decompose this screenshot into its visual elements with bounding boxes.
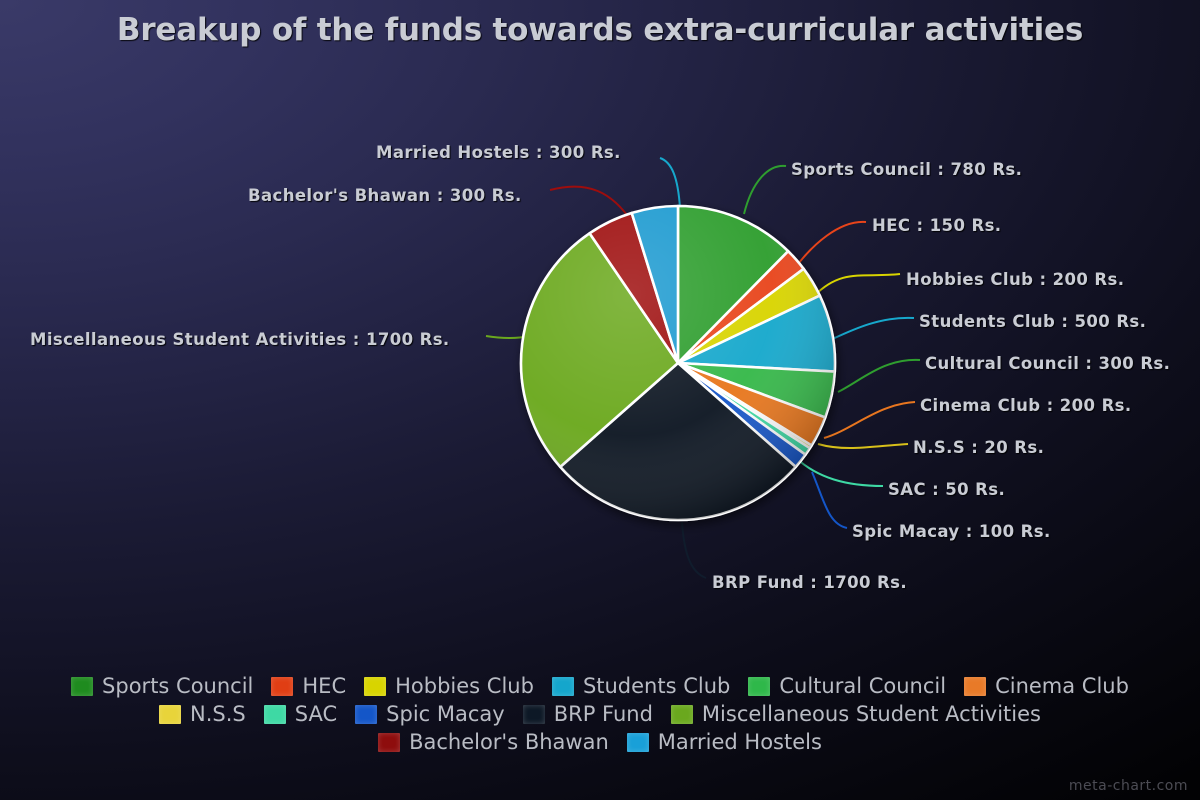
slice-callout-label: Hobbies Club : 200 Rs. (906, 270, 1124, 289)
leader-line (826, 318, 914, 342)
pie-chart-figure: Breakup of the funds towards extra-curri… (0, 0, 1200, 800)
legend-item[interactable]: Cultural Council (748, 672, 946, 700)
legend-label: BRP Fund (554, 704, 653, 725)
legend-color-swatch (627, 733, 649, 752)
legend-item[interactable]: BRP Fund (523, 700, 653, 728)
slice-callout-label: Married Hostels : 300 Rs. (376, 143, 621, 162)
slice-callout-label: Miscellaneous Student Activities : 1700 … (30, 330, 450, 349)
pie-slices-group (521, 206, 835, 520)
legend-item[interactable]: Married Hostels (627, 728, 822, 756)
legend-label: Married Hostels (658, 732, 822, 753)
slice-callout-label: HEC : 150 Rs. (872, 216, 1001, 235)
leader-line (812, 472, 847, 528)
legend-label: Cinema Club (995, 676, 1129, 697)
legend-label: Hobbies Club (395, 676, 534, 697)
legend-label: Miscellaneous Student Activities (702, 704, 1041, 725)
leader-line (838, 360, 920, 392)
slice-callout-label: Bachelor's Bhawan : 300 Rs. (248, 186, 522, 205)
leader-line (660, 158, 680, 208)
legend-item[interactable]: Miscellaneous Student Activities (671, 700, 1041, 728)
legend-color-swatch (364, 677, 386, 696)
leader-line (744, 166, 786, 214)
legend-label: Bachelor's Bhawan (409, 732, 609, 753)
slice-callout-label: Cultural Council : 300 Rs. (925, 354, 1170, 373)
legend-label: Students Club (583, 676, 730, 697)
legend-item[interactable]: SAC (264, 700, 337, 728)
legend-item[interactable]: Cinema Club (964, 672, 1129, 700)
legend-color-swatch (523, 705, 545, 724)
leader-line (796, 458, 883, 486)
legend-label: Cultural Council (779, 676, 946, 697)
leader-line (814, 274, 900, 296)
legend-item[interactable]: Bachelor's Bhawan (378, 728, 609, 756)
legend-color-swatch (271, 677, 293, 696)
legend-label: Sports Council (102, 676, 253, 697)
legend-item[interactable]: Students Club (552, 672, 730, 700)
legend-color-swatch (159, 705, 181, 724)
legend-color-swatch (748, 677, 770, 696)
slice-callout-label: Cinema Club : 200 Rs. (920, 396, 1132, 415)
legend-item[interactable]: N.S.S (159, 700, 246, 728)
legend-label: HEC (302, 676, 346, 697)
legend-label: Spic Macay (386, 704, 505, 725)
legend-color-swatch (71, 677, 93, 696)
legend-color-swatch (264, 705, 286, 724)
legend-color-swatch (552, 677, 574, 696)
watermark: meta-chart.com (1069, 778, 1188, 794)
slice-callout-label: Spic Macay : 100 Rs. (852, 522, 1051, 541)
slice-callout-label: Sports Council : 780 Rs. (791, 160, 1022, 179)
slice-callout-label: N.S.S : 20 Rs. (913, 438, 1044, 457)
chart-legend: Sports CouncilHECHobbies ClubStudents Cl… (0, 672, 1200, 756)
legend-color-swatch (355, 705, 377, 724)
slice-callout-label: SAC : 50 Rs. (888, 480, 1005, 499)
leader-line (792, 222, 866, 272)
slice-callout-label: Students Club : 500 Rs. (919, 312, 1146, 331)
legend-color-swatch (671, 705, 693, 724)
leader-line (824, 402, 915, 438)
slice-callout-label: BRP Fund : 1700 Rs. (712, 573, 907, 592)
legend-color-swatch (378, 733, 400, 752)
legend-color-swatch (964, 677, 986, 696)
legend-label: N.S.S (190, 704, 246, 725)
legend-item[interactable]: Sports Council (71, 672, 253, 700)
legend-item[interactable]: Hobbies Club (364, 672, 534, 700)
leader-line (682, 522, 706, 578)
leader-line (818, 444, 908, 448)
legend-label: SAC (295, 704, 337, 725)
legend-item[interactable]: HEC (271, 672, 346, 700)
legend-item[interactable]: Spic Macay (355, 700, 505, 728)
